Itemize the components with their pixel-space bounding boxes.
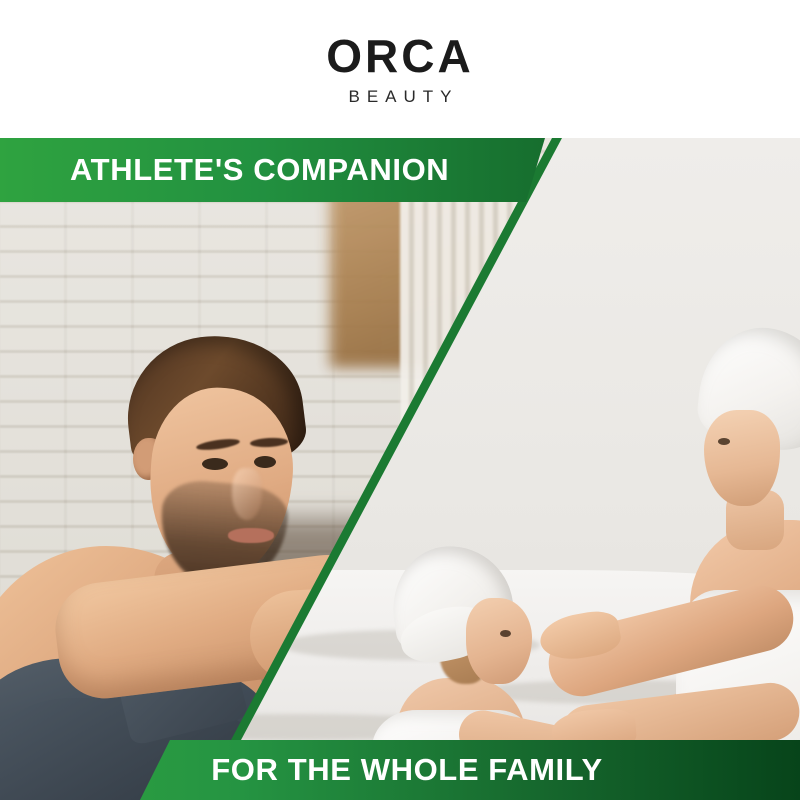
bottom-banner-label: FOR THE WHOLE FAMILY (0, 740, 800, 800)
top-banner-label: ATHLETE'S COMPANION (70, 138, 449, 202)
man-eye-right (254, 456, 276, 468)
brand-tagline: BEAUTY (341, 88, 458, 105)
man-nose (232, 468, 262, 520)
top-banner: ATHLETE'S COMPANION (0, 138, 800, 202)
product-banner: ORCA BEAUTY (0, 0, 800, 800)
brand-name: ORCA (326, 33, 473, 79)
man-eye-left (202, 458, 228, 470)
man-mouth (228, 528, 274, 543)
bottom-banner: FOR THE WHOLE FAMILY (0, 740, 800, 800)
mother-eye (718, 438, 730, 445)
brand-header: ORCA BEAUTY (0, 0, 800, 138)
daughter-eye (500, 630, 511, 637)
daughter-face (466, 598, 532, 684)
image-stage (0, 138, 800, 800)
